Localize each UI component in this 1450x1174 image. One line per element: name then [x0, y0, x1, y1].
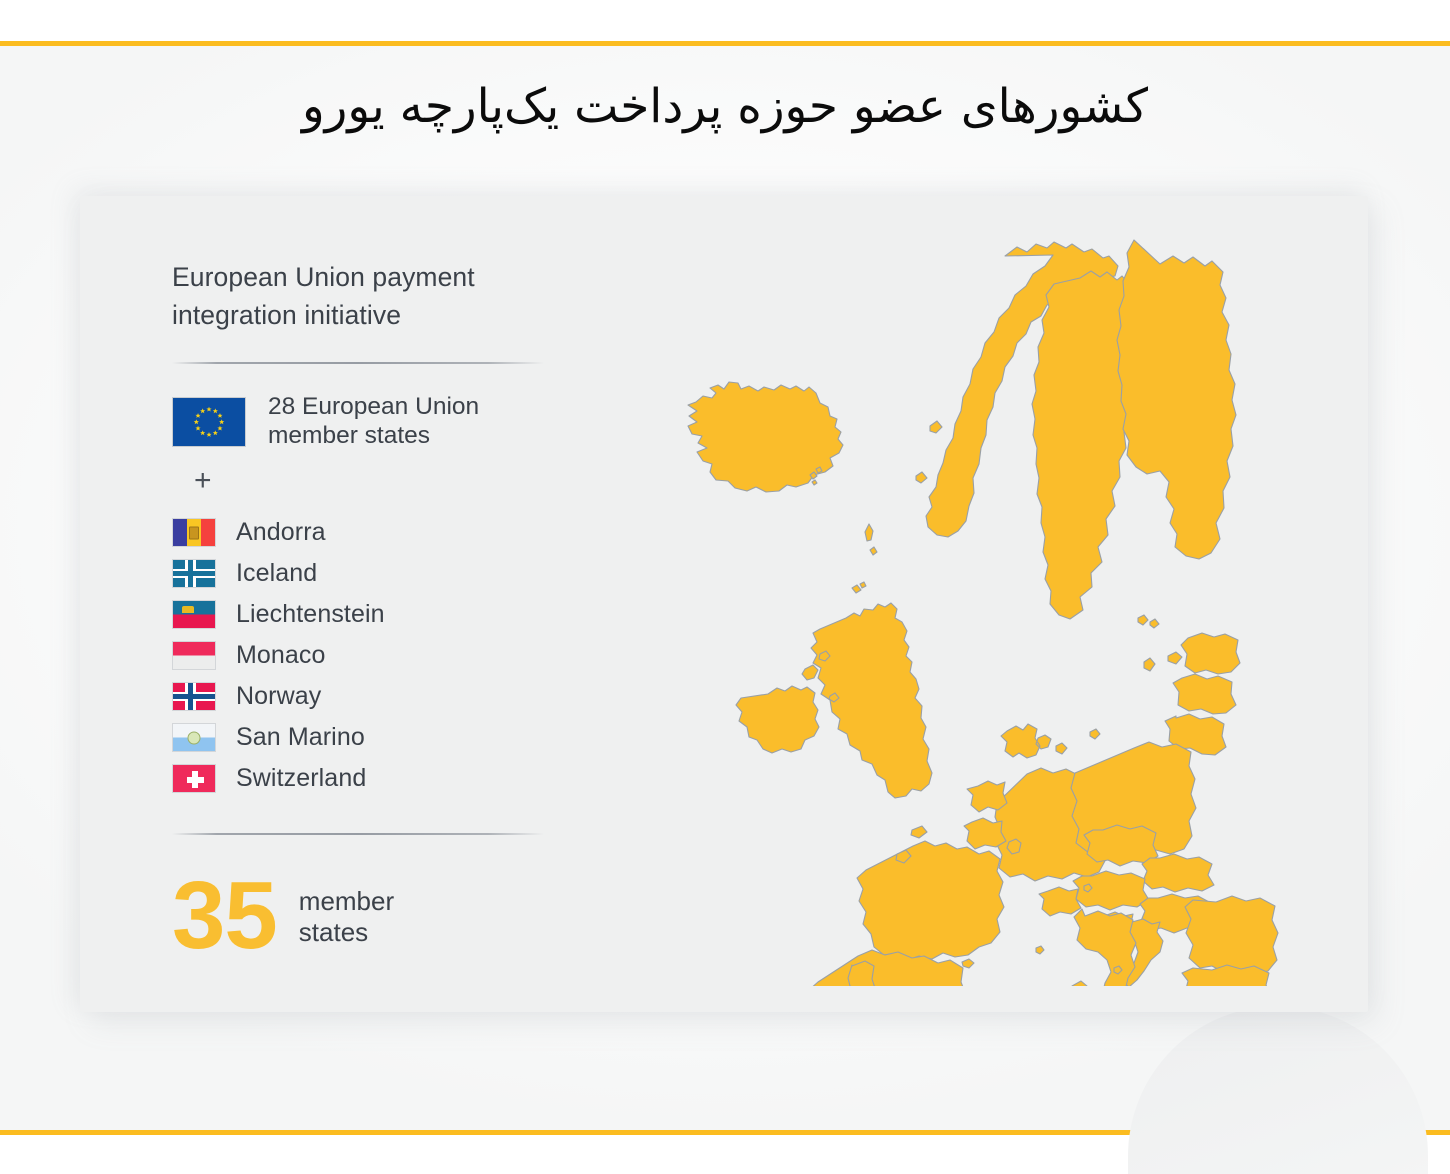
europe-map: [660, 226, 1360, 986]
region-corsica: [1069, 981, 1089, 986]
region-bulgaria: [1182, 965, 1271, 986]
country-name: Andorra: [236, 518, 326, 547]
country-name: Norway: [236, 682, 321, 711]
eu-legend-label-line1: 28 European Union: [268, 393, 479, 420]
legend-heading-line2: integration initiative: [172, 296, 544, 334]
list-item: Iceland: [172, 553, 544, 594]
top-accent-rule: [0, 41, 1450, 46]
country-name: Monaco: [236, 641, 326, 670]
infographic-stage: کشورهای عضو حوزه پرداخت یک‌پارچه یورو Eu…: [0, 0, 1450, 1174]
flag-switzerland-icon: [172, 764, 216, 793]
page-title: کشورهای عضو حوزه پرداخت یک‌پارچه یورو: [0, 78, 1450, 137]
region-monaco: [1036, 946, 1044, 954]
region-spain: [809, 950, 968, 986]
total-count: 35: [172, 877, 277, 956]
country-name: Iceland: [236, 559, 317, 588]
region-orkney: [852, 582, 866, 593]
region-bornholm: [1090, 729, 1100, 739]
list-item: Andorra: [172, 512, 544, 553]
legend-divider-top: [172, 362, 544, 364]
region-belgium: [964, 818, 1006, 849]
eu-legend-row: 28 European Union member states: [172, 393, 544, 450]
flag-monaco-icon: [172, 641, 216, 670]
list-item: Liechtenstein: [172, 594, 544, 635]
region-latvia: [1173, 674, 1236, 714]
content-card: European Union payment integration initi…: [80, 196, 1368, 1012]
legend-panel: European Union payment integration initi…: [172, 258, 544, 956]
region-gotland: [1144, 658, 1155, 671]
region-finland: [1117, 240, 1236, 559]
region-estonia: [1181, 633, 1240, 674]
country-name: San Marino: [236, 723, 365, 752]
region-aland: [1138, 615, 1159, 628]
flag-andorra-icon: [172, 518, 216, 547]
flag-liechtenstein-icon: [172, 600, 216, 629]
region-andorra: [962, 959, 974, 968]
legend-heading: European Union payment integration initi…: [172, 258, 544, 335]
list-item: Norway: [172, 676, 544, 717]
eu-flag-icon: [172, 397, 246, 447]
total-label: member states: [299, 886, 394, 947]
country-name: Switzerland: [236, 764, 366, 793]
total-label-line1: member: [299, 886, 394, 916]
eu-legend-label: 28 European Union member states: [268, 393, 479, 450]
country-name: Liechtenstein: [236, 600, 385, 629]
flag-norway-icon: [172, 682, 216, 711]
region-italy: [1067, 909, 1136, 986]
flag-iceland-icon: [172, 559, 216, 588]
eu-legend-label-line2: member states: [268, 422, 430, 449]
region-iceland: [688, 382, 843, 492]
total-summary: 35 member states: [172, 877, 544, 956]
region-netherlands: [967, 781, 1007, 812]
region-shetland: [865, 524, 877, 555]
region-denmark: [1001, 724, 1067, 758]
region-united-kingdom: [802, 603, 932, 798]
list-item: San Marino: [172, 717, 544, 758]
total-label-line2: states: [299, 917, 368, 947]
region-switzerland: [1039, 887, 1081, 916]
list-item: Monaco: [172, 635, 544, 676]
legend-heading-line1: European Union payment: [172, 258, 544, 296]
decorative-arc-shape: [1128, 1006, 1428, 1174]
map-landmasses: [688, 240, 1360, 986]
region-romania: [1185, 896, 1278, 974]
top-frame-band: [0, 0, 1450, 41]
country-list: Andorra Iceland Liechtenstein Monaco: [172, 512, 544, 799]
list-item: Switzerland: [172, 758, 544, 799]
legend-divider-bottom: [172, 833, 544, 835]
region-ireland: [736, 686, 819, 753]
flag-sanmarino-icon: [172, 723, 216, 752]
region-saaremaa: [1168, 652, 1182, 664]
region-slovakia: [1142, 854, 1214, 892]
plus-symbol: +: [172, 466, 544, 496]
